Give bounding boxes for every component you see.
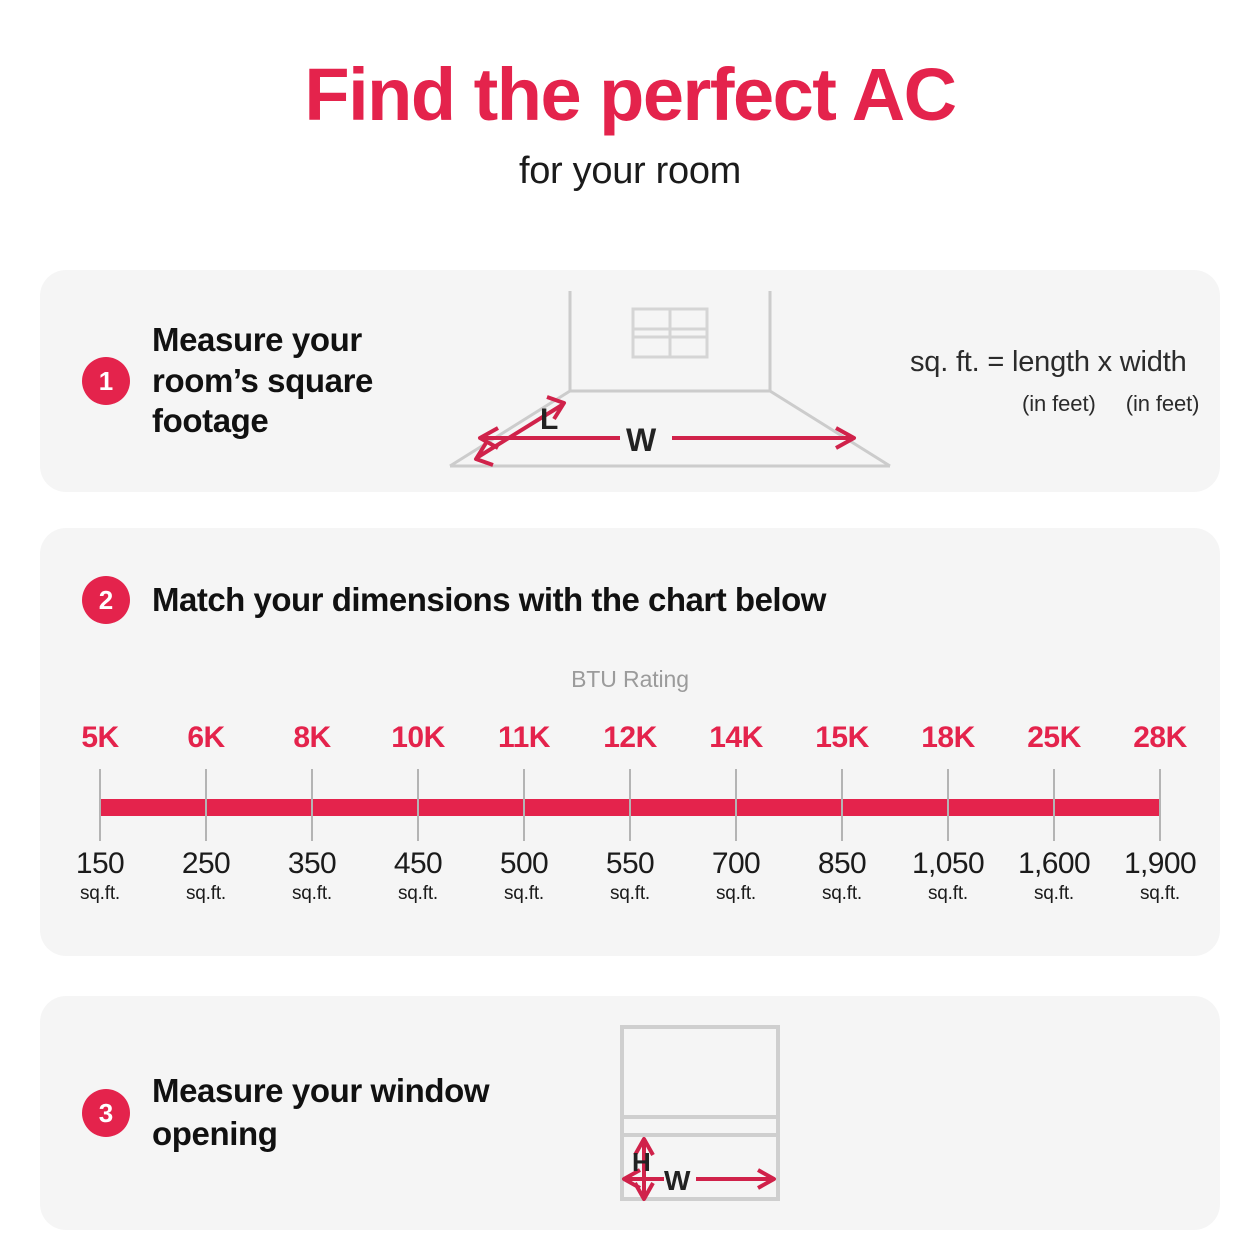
btu-rating-caption: BTU Rating bbox=[40, 666, 1220, 693]
window-width-label: W bbox=[664, 1165, 691, 1196]
step-2-card: 2 Match your dimensions with the chart b… bbox=[40, 528, 1220, 956]
btu-rating-label: 6K bbox=[146, 721, 266, 755]
btu-rating-label: 12K bbox=[570, 721, 690, 755]
step-3-heading-group: 3 Measure your window opening bbox=[40, 1070, 600, 1156]
scale-tick bbox=[947, 769, 949, 841]
btu-rating-label: 28K bbox=[1100, 721, 1220, 755]
scale-tick bbox=[735, 769, 737, 841]
step-1-heading-group: 1 Measure your room’s square footage bbox=[40, 320, 440, 443]
room-size-unit: sq.ft. bbox=[1090, 883, 1230, 905]
formula-equation: sq. ft. = length x width bbox=[910, 346, 1199, 379]
width-label: W bbox=[626, 422, 657, 458]
step-1-badge: 1 bbox=[82, 357, 130, 405]
page-subtitle: for your room bbox=[0, 150, 1260, 193]
formula-note-right: (in feet) bbox=[1126, 391, 1200, 417]
window-height-label: H bbox=[632, 1147, 651, 1177]
step-2-badge: 2 bbox=[82, 576, 130, 624]
btu-rating-label: 8K bbox=[252, 721, 372, 755]
btu-scale-chart: 5K150sq.ft.6K250sq.ft.8K350sq.ft.10K450s… bbox=[40, 721, 1220, 931]
step-2-title: Match your dimensions with the chart bel… bbox=[152, 581, 826, 619]
btu-rating-label: 15K bbox=[782, 721, 902, 755]
wall-window-icon bbox=[633, 309, 707, 357]
scale-tick bbox=[417, 769, 419, 841]
scale-tick bbox=[629, 769, 631, 841]
room-size-value: 1,900 bbox=[1090, 847, 1230, 881]
formula-units: (in feet) (in feet) bbox=[910, 391, 1199, 417]
scale-tick bbox=[1159, 769, 1161, 841]
step-1-card: 1 Measure your room’s square footage bbox=[40, 270, 1220, 492]
length-label: L bbox=[540, 403, 558, 436]
page-header: Find the perfect AC for your room bbox=[0, 0, 1260, 193]
infographic-page: Find the perfect AC for your room 1 Meas… bbox=[0, 0, 1260, 1260]
btu-rating-label: 11K bbox=[464, 721, 584, 755]
step-1-title: Measure your room’s square footage bbox=[152, 320, 440, 443]
scale-tick bbox=[311, 769, 313, 841]
btu-rating-label: 25K bbox=[994, 721, 1114, 755]
step-3-badge: 3 bbox=[82, 1089, 130, 1137]
btu-rating-label: 18K bbox=[888, 721, 1008, 755]
scale-tick bbox=[1053, 769, 1055, 841]
step-2-heading-group: 2 Match your dimensions with the chart b… bbox=[40, 528, 1220, 624]
btu-rating-label: 10K bbox=[358, 721, 478, 755]
width-arrow-icon bbox=[480, 428, 854, 448]
scale-tick bbox=[523, 769, 525, 841]
window-diagram: H W bbox=[600, 1013, 800, 1213]
scale-tick bbox=[99, 769, 101, 841]
formula-note-left: (in feet) bbox=[1022, 391, 1096, 417]
btu-rating-label: 5K bbox=[40, 721, 160, 755]
step-3-card: 3 Measure your window opening bbox=[40, 996, 1220, 1230]
btu-rating-label: 14K bbox=[676, 721, 796, 755]
room-diagram: L W bbox=[440, 281, 900, 481]
scale-tick bbox=[205, 769, 207, 841]
square-footage-formula: sq. ft. = length x width (in feet) (in f… bbox=[910, 346, 1199, 417]
btu-scale-grid: 5K150sq.ft.6K250sq.ft.8K350sq.ft.10K450s… bbox=[100, 721, 1160, 931]
scale-tick bbox=[841, 769, 843, 841]
step-3-title: Measure your window opening bbox=[152, 1070, 600, 1156]
page-title: Find the perfect AC bbox=[0, 56, 1260, 134]
